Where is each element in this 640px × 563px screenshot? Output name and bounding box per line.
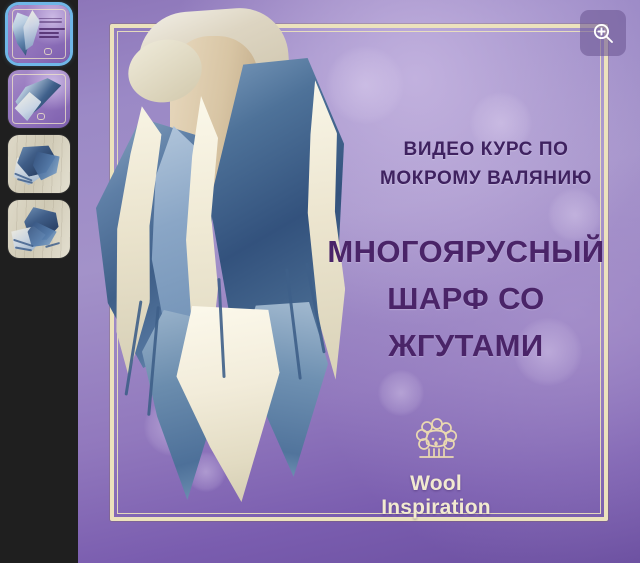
thumbnail-text-line	[39, 28, 65, 30]
brand-name: Wool Inspiration	[346, 472, 526, 519]
image-viewer: ВИДЕО КУРС ПО МОКРОМУ ВАЛЯНИЮ МНОГОЯРУСН…	[0, 0, 640, 563]
thumbnail-text-line	[39, 21, 62, 23]
magnifier-plus-icon	[591, 21, 615, 45]
thumbnail-sheep-icon	[37, 113, 45, 120]
thumbnail-text-block	[39, 18, 68, 38]
subtitle-line-1: ВИДЕО КУРС ПО	[346, 136, 626, 165]
zoom-button[interactable]	[580, 10, 626, 56]
thumbnail-item-2[interactable]	[8, 70, 70, 128]
title-line-2: ШАРФ СО	[298, 275, 634, 322]
title-line-1: МНОГОЯРУСНЫЙ	[298, 228, 634, 275]
scarf-flatlay-thumbnail	[8, 135, 70, 193]
thumbnail-text-line	[39, 18, 62, 20]
page-title: МНОГОЯРУСНЫЙ ШАРФ СО ЖГУТАМИ	[298, 228, 634, 369]
subtitle-line-2: МОКРОМУ ВАЛЯНИЮ	[346, 165, 626, 194]
scarf-coiled-thumbnail	[8, 200, 70, 258]
poster-thumbnail	[8, 5, 70, 63]
thumbnail-item-1[interactable]	[8, 5, 70, 63]
title-line-3: ЖГУТАМИ	[298, 322, 634, 369]
poster-subtitle: ВИДЕО КУРС ПО МОКРОМУ ВАЛЯНИЮ	[346, 136, 626, 193]
thumbnail-sheep-icon	[44, 48, 52, 55]
brand-logo: Wool Inspiration	[346, 418, 526, 519]
thumbnail-item-4[interactable]	[8, 200, 70, 258]
sheep-icon	[410, 418, 462, 464]
thumbnail-text-line	[39, 36, 59, 38]
thumbnail-rail[interactable]	[0, 0, 78, 563]
poster-image[interactable]: ВИДЕО КУРС ПО МОКРОМУ ВАЛЯНИЮ МНОГОЯРУСН…	[78, 0, 640, 563]
brand-line-1: Wool	[346, 472, 526, 496]
thumbnail-item-3[interactable]	[8, 135, 70, 193]
thumbnail-text-line	[39, 32, 59, 34]
scarf-detail-thumbnail	[8, 70, 70, 128]
brand-line-2: Inspiration	[346, 496, 526, 520]
